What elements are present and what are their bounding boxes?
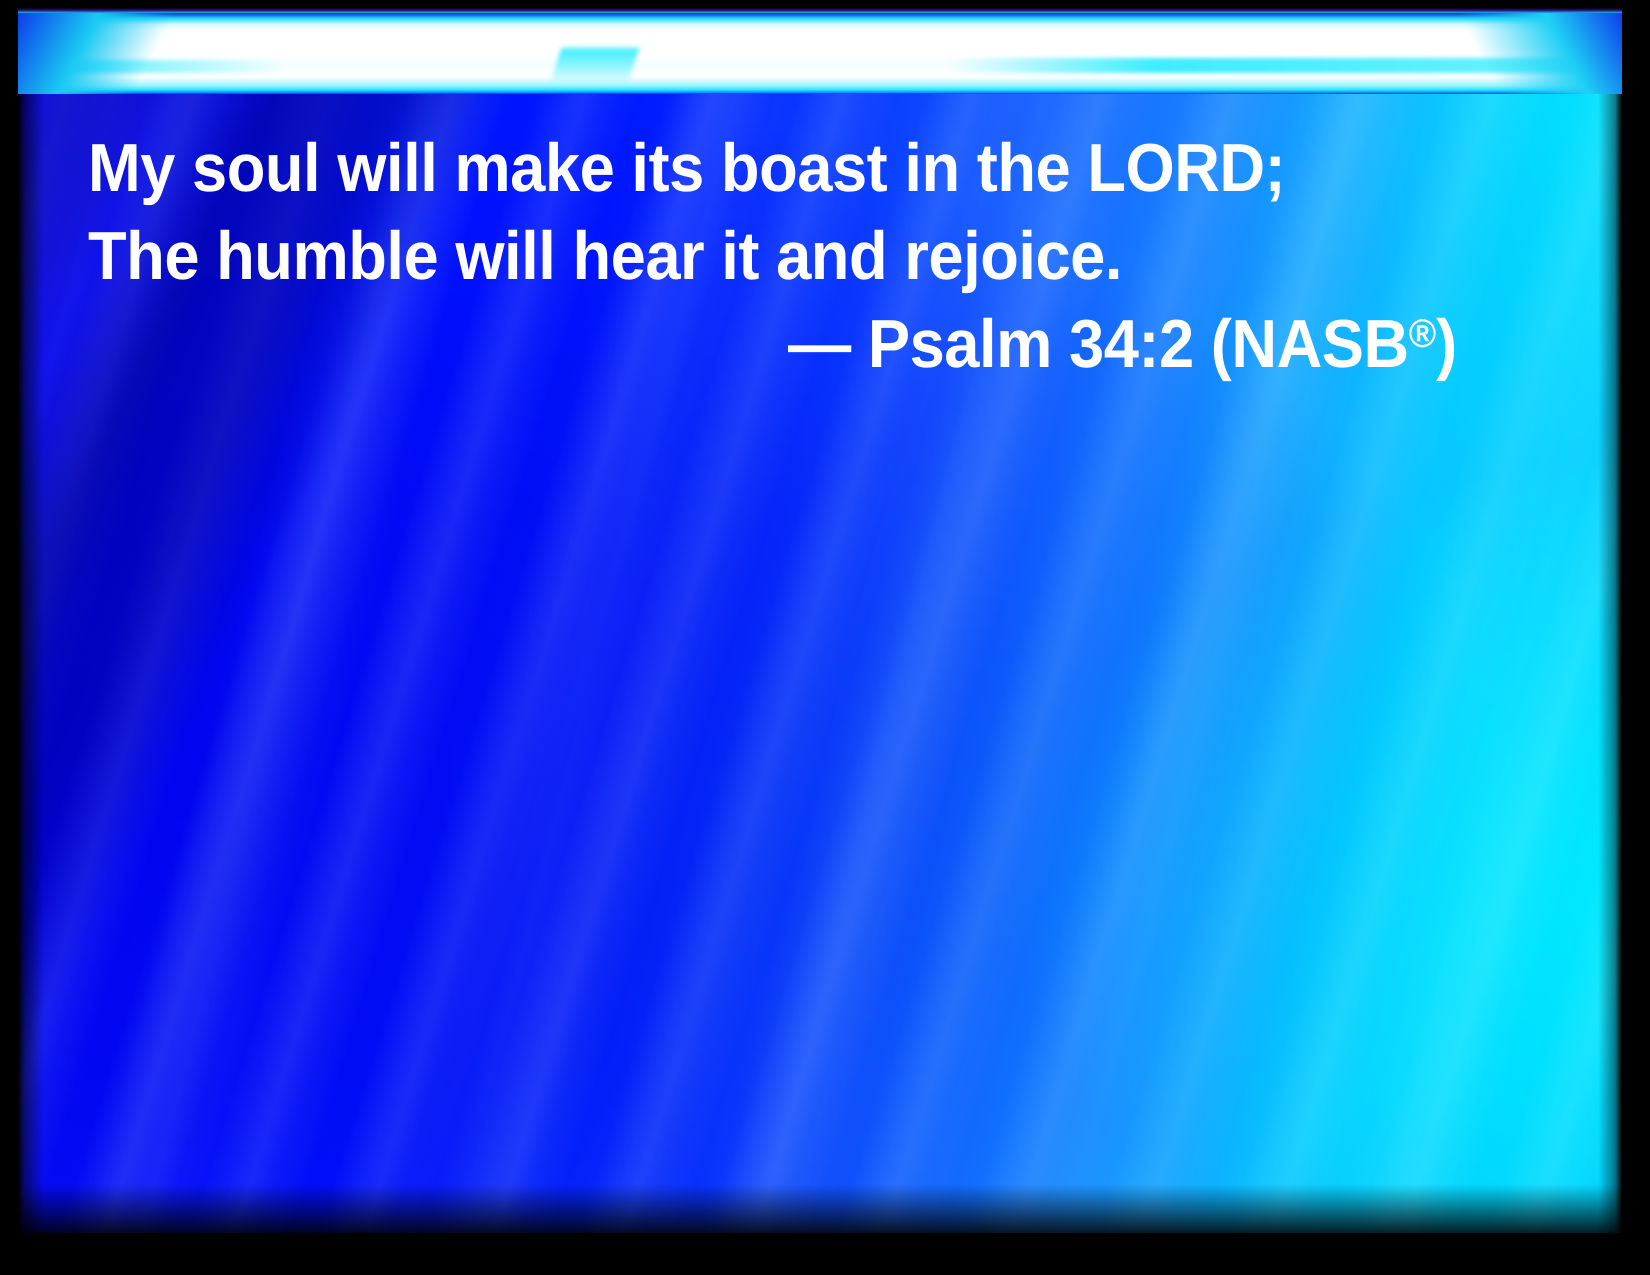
glow-top-edge — [18, 8, 1622, 13]
glow-notch — [551, 48, 639, 82]
top-glow-bar — [18, 8, 1622, 94]
verse-reference-suffix: ) — [1436, 306, 1457, 382]
verse-reference: — Psalm 34:2 (NASB®) — [788, 300, 1457, 388]
glow-shoulder-right — [1382, 8, 1622, 94]
verse-line-2: The humble will hear it and rejoice. — [88, 212, 1122, 300]
verse-line-1: My soul will make its boast in the LORD; — [88, 124, 1285, 212]
scripture-slide: My soul will make its boast in the LORD;… — [0, 0, 1650, 1275]
verse-reference-prefix: — Psalm 34:2 (NASB — [788, 306, 1409, 382]
registered-trademark-icon: ® — [1409, 312, 1436, 356]
glow-shoulder-left — [18, 8, 238, 94]
